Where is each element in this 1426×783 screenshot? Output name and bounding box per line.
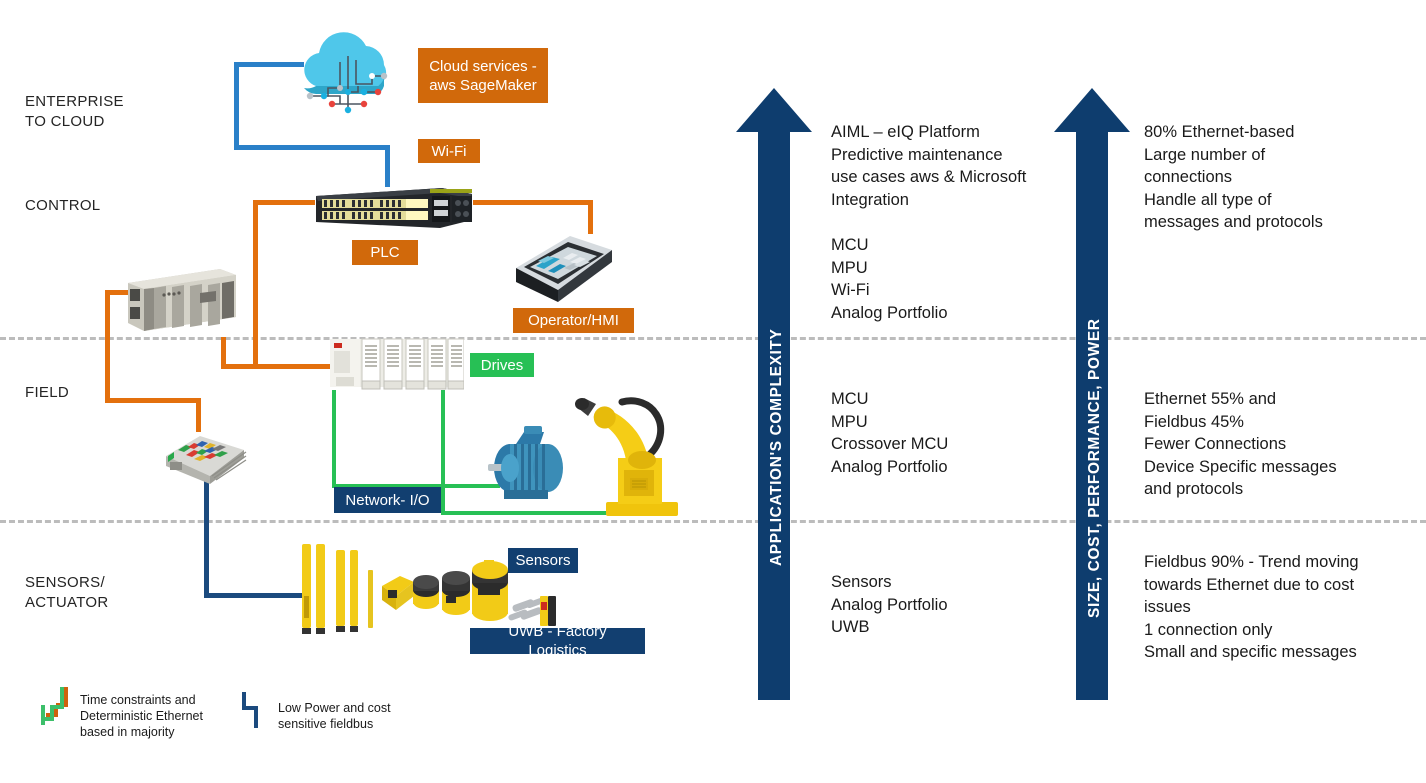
- link-drives-to-robot-vertical: [441, 390, 445, 515]
- link-switch-to-hmi-horizontal: [473, 200, 593, 205]
- link-cloud-to-switch: [385, 145, 390, 187]
- legend-text-deterministic-ethernet: Time constraints and Deterministic Ether…: [80, 692, 230, 740]
- link-switch-to-plc-horizontal: [253, 200, 315, 205]
- network-io-module: [160, 428, 248, 486]
- link-cloud-vertical-left: [234, 62, 239, 150]
- badge-uwb[interactable]: UWB - Factory Logistics: [470, 628, 645, 654]
- badge-drives[interactable]: Drives: [470, 353, 534, 377]
- link-io-to-sensors-vertical: [204, 478, 209, 598]
- complexity-text-control: MCU MPU Wi-Fi Analog Portfolio: [831, 234, 1061, 324]
- badge-operator-hmi[interactable]: Operator/HMI: [513, 308, 634, 333]
- complexity-text-field: MCU MPU Crossover MCU Analog Portfolio: [831, 388, 1061, 478]
- link-plc-rack-to-io-horizontal: [105, 398, 201, 403]
- plc-controller-rack: [124, 265, 240, 335]
- arrow-caption-complexity: APPLICATION'S COMPLEXITY: [768, 329, 786, 566]
- tier-divider-control-field: [0, 337, 1426, 340]
- tier-label-sensors-actuator: SENSORS/ ACTUATOR: [25, 573, 165, 613]
- badge-network-io[interactable]: Network- I/O: [334, 487, 441, 513]
- link-io-to-sensors-horizontal: [204, 593, 310, 598]
- network-text-enterprise: 80% Ethernet-based Large number of conne…: [1144, 121, 1414, 234]
- navy-elbow-icon: [240, 690, 266, 730]
- link-cloud-horizontal-lower: [234, 145, 390, 150]
- orange-green-elbow-icon: [40, 685, 74, 727]
- link-drives-feed-horizontal: [221, 364, 336, 369]
- badge-sensors[interactable]: Sensors: [508, 548, 578, 573]
- badge-cloud-services[interactable]: Cloud services - aws SageMaker: [418, 48, 548, 103]
- network-text-field: Ethernet 55% and Fieldbus 45% Fewer Conn…: [1144, 388, 1414, 501]
- link-switch-to-plc-vertical: [253, 200, 258, 366]
- link-plc-rack-down: [105, 290, 110, 402]
- badge-wifi[interactable]: Wi-Fi: [418, 139, 480, 163]
- network-text-sensors: Fieldbus 90% - Trend moving towards Ethe…: [1144, 551, 1424, 664]
- operator-hmi-panel: [508, 228, 616, 308]
- industrial-ethernet-switch: [312, 184, 476, 232]
- servo-drive-bank: [330, 337, 464, 393]
- link-plc-rack-to-io-vertical: [196, 398, 201, 432]
- tier-label-control: CONTROL: [25, 196, 155, 216]
- link-drives-feed-vertical: [221, 337, 226, 369]
- industrial-motor: [480, 420, 572, 502]
- cloud-circuit-icon: [288, 26, 408, 116]
- arrow-caption-size-cost: SIZE, COST, PERFORMANCE, POWER: [1086, 318, 1104, 618]
- tier-label-enterprise-to-cloud: ENTERPRISE TO CLOUD: [25, 92, 155, 132]
- articulated-robot-arm: [570, 386, 690, 522]
- legend-text-low-power-fieldbus: Low Power and cost sensitive fieldbus: [278, 700, 428, 732]
- tier-divider-field-sensors: [0, 520, 1426, 523]
- badge-plc[interactable]: PLC: [352, 240, 418, 265]
- link-drives-to-motor-vertical: [332, 390, 336, 488]
- complexity-text-sensors: Sensors Analog Portfolio UWB: [831, 571, 1061, 639]
- complexity-text-enterprise: AIML – eIQ Platform Predictive maintenan…: [831, 121, 1061, 211]
